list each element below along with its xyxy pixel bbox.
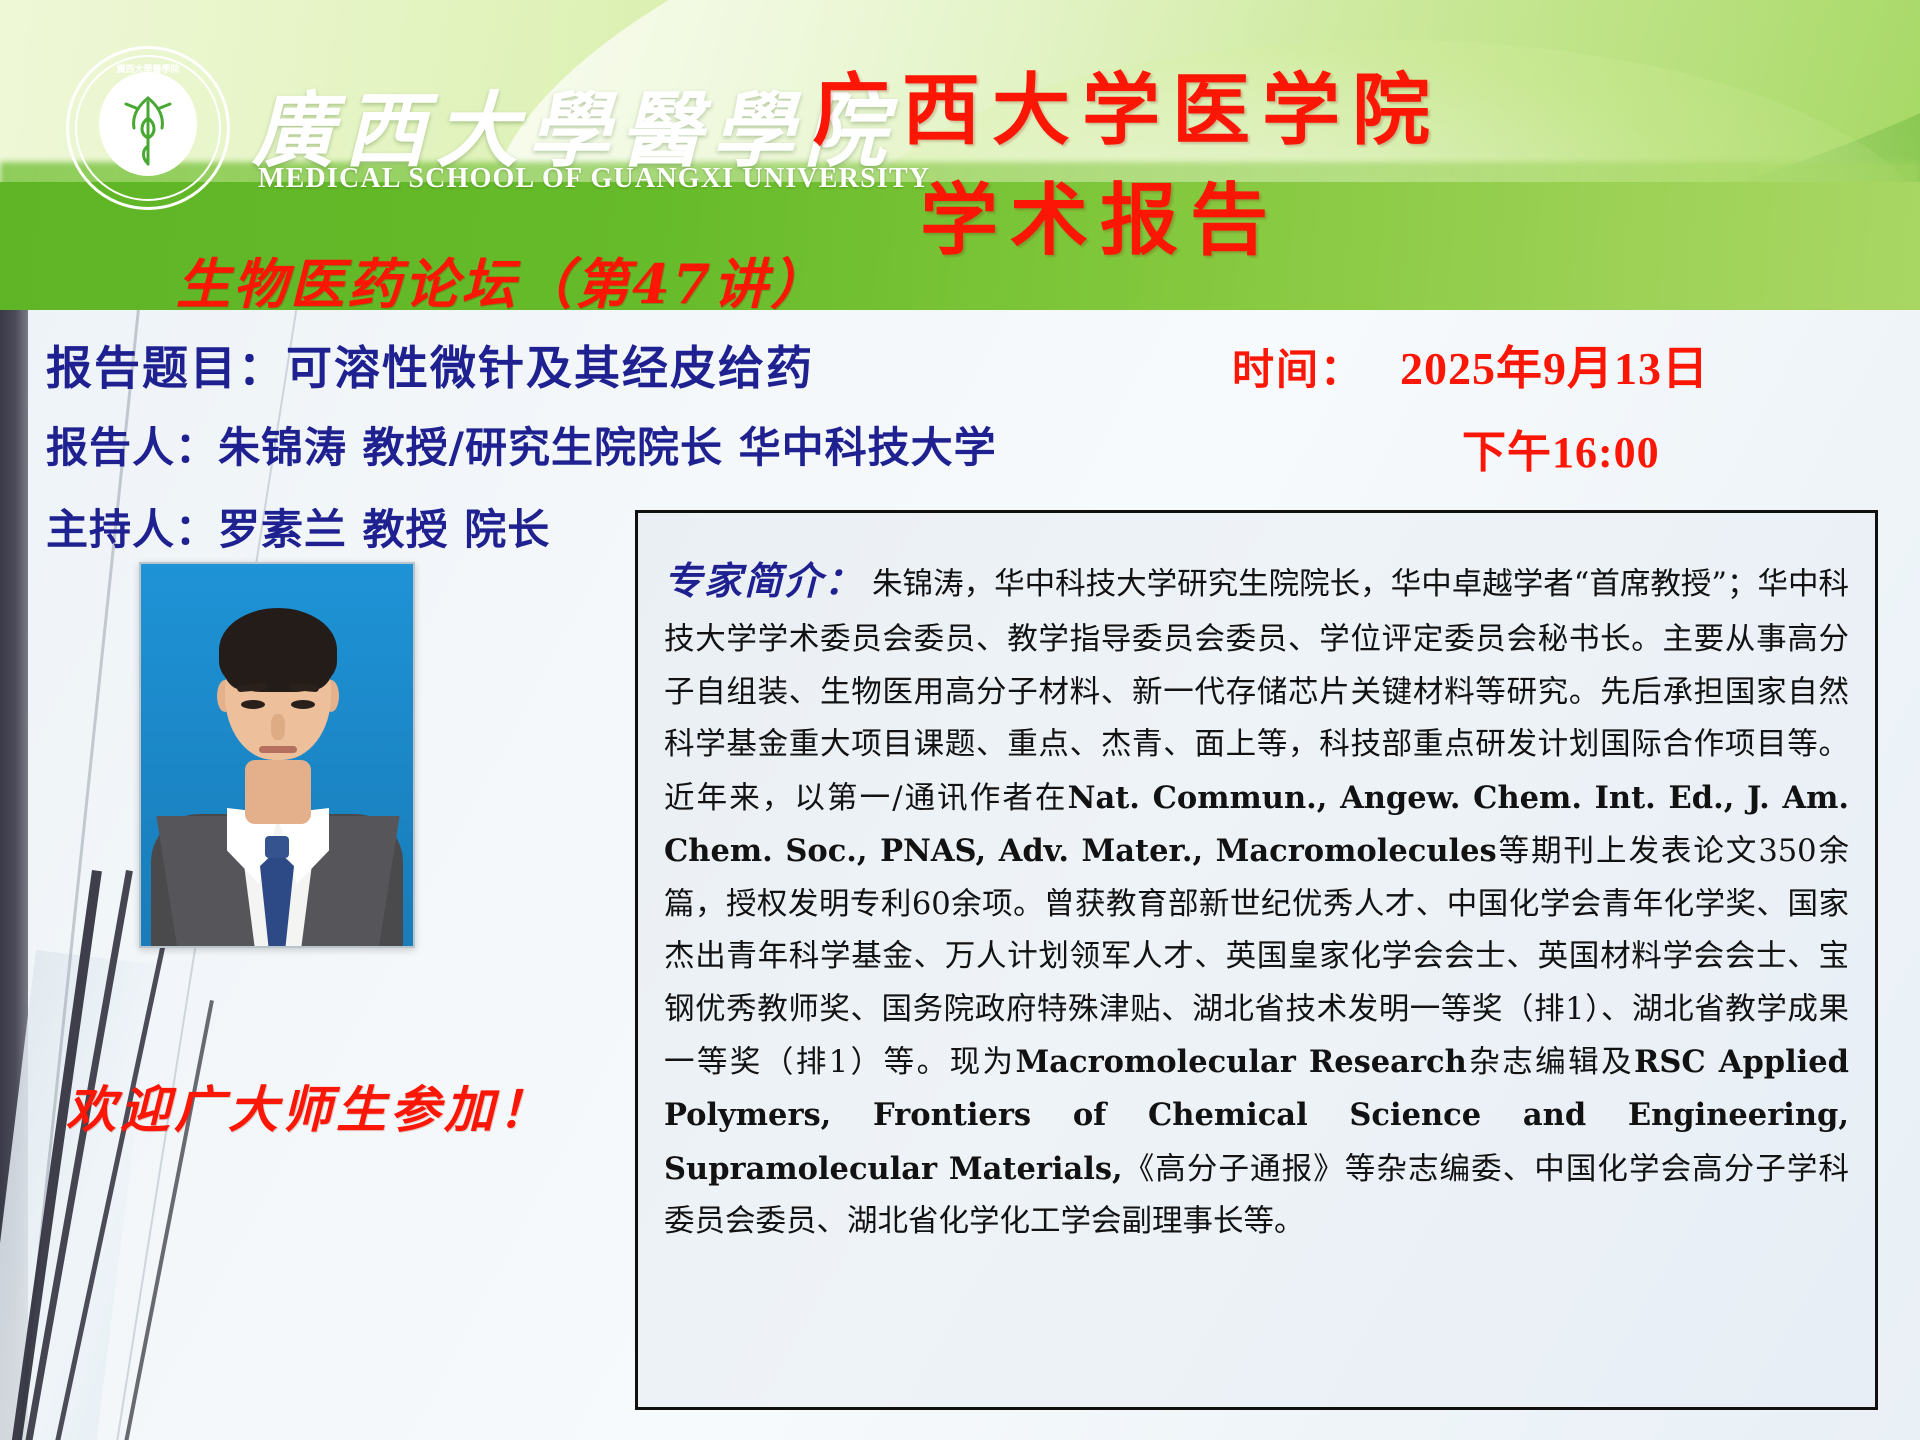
- poster-body: 报告题目：可溶性微针及其经皮给药 报告人：朱锦涛 教授/研究生院院长 华中科技大…: [0, 310, 1920, 1440]
- portrait-necktie-knot: [265, 836, 289, 858]
- banner-title-line-1: 广西大学医学院: [812, 48, 1442, 160]
- event-topic-row: 报告题目：可溶性微针及其经皮给药: [46, 332, 814, 398]
- bio-journals-2: Macromolecular Research: [1016, 1044, 1467, 1080]
- poster-header-banner: 廣西大學醫學院 2016 廣西大學醫學院 MEDICAL SCHOOL OF G…: [0, 0, 1920, 310]
- event-host-row: 主持人：罗素兰 教授 院长: [46, 496, 550, 557]
- portrait-eye-right: [291, 700, 315, 709]
- svg-text:廣西大學醫學院: 廣西大學醫學院: [116, 63, 179, 74]
- portrait-eye-left: [241, 700, 265, 709]
- portrait-mouth: [259, 746, 297, 753]
- speaker-bio-text: 专家简介：朱锦涛，华中科技大学研究生院院长，华中卓越学者“首席教授”；华中科技大…: [664, 549, 1849, 1249]
- crest-year-label: 2016: [66, 158, 230, 178]
- speaker-portrait: [139, 562, 415, 948]
- bio-paragraph-1: 朱锦涛，华中科技大学研究生院院长，华中卓越学者“首席教授”；华中科技大学学术委员…: [664, 567, 1849, 816]
- university-crest-logo: 廣西大學醫學院 2016: [66, 46, 230, 210]
- speaker-bio-heading: 专家简介：: [664, 559, 864, 603]
- banner-title-line-2: 学术报告: [920, 158, 1280, 270]
- event-host-label: 主持人：: [46, 505, 218, 554]
- event-speaker-label: 报告人：: [46, 423, 218, 472]
- welcome-message: 欢迎广大师生参加！: [66, 1070, 552, 1142]
- event-time-label: 时间：: [1232, 336, 1364, 397]
- portrait-neck: [245, 760, 311, 824]
- event-host-value: 罗素兰 教授 院长: [218, 505, 550, 554]
- crest-emblem-icon: 廣西大學醫學院: [66, 46, 230, 210]
- school-name-english: MEDICAL SCHOOL OF GUANGXI UNIVERSITY: [258, 163, 930, 195]
- forum-series-label: 生物医药论坛（第47讲）: [176, 240, 827, 310]
- event-date-value: 2025年9月13日: [1400, 332, 1709, 398]
- portrait-nose: [271, 714, 285, 740]
- event-topic-label: 报告题目：: [46, 341, 286, 395]
- event-topic-value: 可溶性微针及其经皮给药: [286, 341, 814, 395]
- event-speaker-value: 朱锦涛 教授/研究生院院长 华中科技大学: [218, 423, 997, 472]
- seminar-poster: 廣西大學醫學院 2016 廣西大學醫學院 MEDICAL SCHOOL OF G…: [0, 0, 1920, 1440]
- speaker-bio-box: 专家简介：朱锦涛，华中科技大学研究生院院长，华中卓越学者“首席教授”；华中科技大…: [635, 510, 1878, 1410]
- event-clock-value: 下午16:00: [1462, 416, 1660, 480]
- bio-paragraph-3: 杂志编辑及: [1467, 1045, 1634, 1080]
- event-speaker-row: 报告人：朱锦涛 教授/研究生院院长 华中科技大学: [46, 414, 997, 475]
